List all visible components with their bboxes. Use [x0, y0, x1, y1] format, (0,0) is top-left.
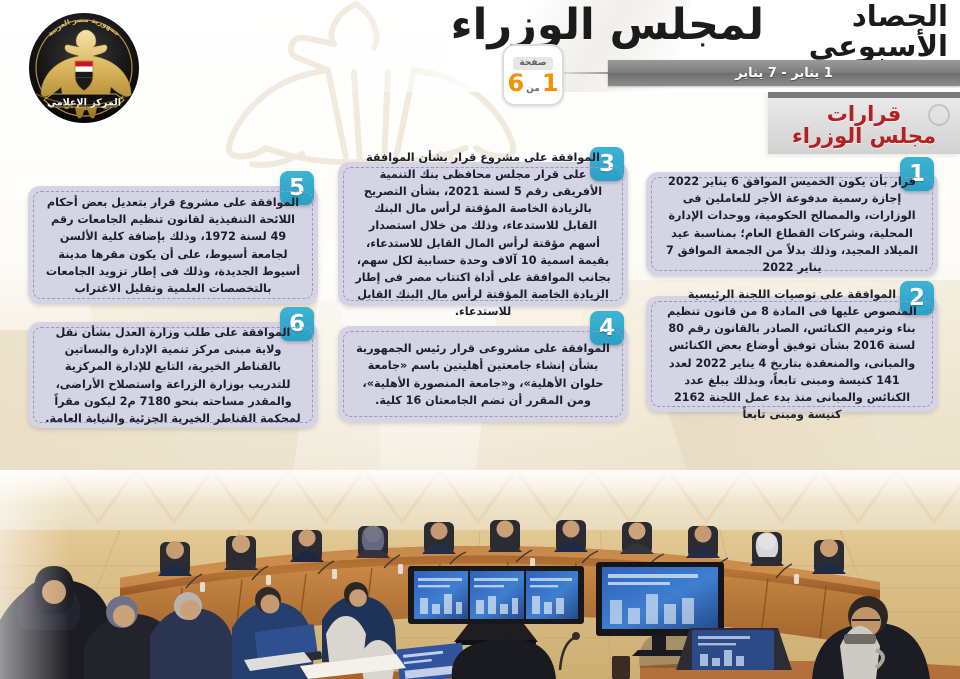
title-line-1: الحصاد	[768, 2, 948, 32]
decorative-ring-icon	[928, 104, 950, 126]
title-line-2: الأسبوعى	[768, 32, 948, 62]
cabinet-emblem-icon: جمهورية مصر العربية رئاسة مجلس الوزراء ا…	[22, 6, 146, 130]
decision-card[interactable]: 1 قرار بأن يكون الخميس الموافق 6 يناير 2…	[646, 172, 938, 276]
plaque-line-1: قرارات	[827, 104, 901, 126]
decision-card[interactable]: 5 الموافقة على مشروع قرار بتعديل بعض أحك…	[28, 186, 318, 304]
date-range-label: 1 يناير - 7 يناير	[735, 66, 833, 81]
decision-card-inner: قرار بأن يكون الخميس الموافق 6 يناير 202…	[651, 177, 933, 271]
plaque-line-2: مجلس الوزراء	[792, 126, 936, 148]
decision-card[interactable]: 2 الموافقة على توصيات اللجنة الرئيسية ال…	[646, 296, 938, 412]
decision-text: الموافقة على مشروع قرار بشأن الموافقة عل…	[355, 149, 611, 319]
page-of: من	[526, 84, 540, 94]
infographic-poster: لمجلس الوزراء الحصاد الأسبوعى 1 يناير - …	[0, 0, 960, 679]
page-counter-badge: صفحة 1 من 6	[502, 44, 564, 106]
date-range-bar: 1 يناير - 7 يناير	[608, 60, 960, 86]
decision-card[interactable]: 3 الموافقة على مشروع قرار بشأن الموافقة …	[338, 162, 628, 306]
page-current: 1	[542, 71, 559, 95]
decision-text: الموافقة على مشروع قرار بتعديل بعض أحكام…	[45, 194, 301, 296]
cabinet-meeting-photo	[0, 470, 960, 679]
decision-card-inner: الموافقة على توصيات اللجنة الرئيسية المن…	[651, 301, 933, 407]
decision-card-inner: الموافقة على طلب وزارة العدل بشأن نقل ول…	[33, 327, 313, 423]
title-stack: الحصاد الأسبوعى	[768, 2, 948, 61]
page-counter-numbers: 1 من 6	[507, 71, 558, 95]
decision-text: قرار بأن يكون الخميس الموافق 6 يناير 202…	[663, 173, 921, 275]
decision-card-inner: الموافقة على مشروع قرار بشأن الموافقة عل…	[343, 167, 623, 301]
page-title: لمجلس الوزراء	[451, 4, 764, 47]
decision-text: الموافقة على مشروعى قرار رئيس الجمهورية …	[355, 340, 611, 408]
decision-card[interactable]: 6 الموافقة على طلب وزارة العدل بشأن نقل …	[28, 322, 318, 428]
svg-text:المركز الإعلامي: المركز الإعلامي	[47, 97, 121, 108]
decision-text: الموافقة على توصيات اللجنة الرئيسية المن…	[663, 286, 921, 422]
page-counter-word: صفحة	[513, 57, 552, 70]
decision-card[interactable]: 4 الموافقة على مشروعى قرار رئيس الجمهوري…	[338, 326, 628, 422]
decision-text: الموافقة على طلب وزارة العدل بشأن نقل ول…	[45, 324, 301, 426]
decision-card-inner: الموافقة على مشروع قرار بتعديل بعض أحكام…	[33, 191, 313, 299]
page-total: 6	[507, 71, 524, 95]
decision-card-inner: الموافقة على مشروعى قرار رئيس الجمهورية …	[343, 331, 623, 417]
